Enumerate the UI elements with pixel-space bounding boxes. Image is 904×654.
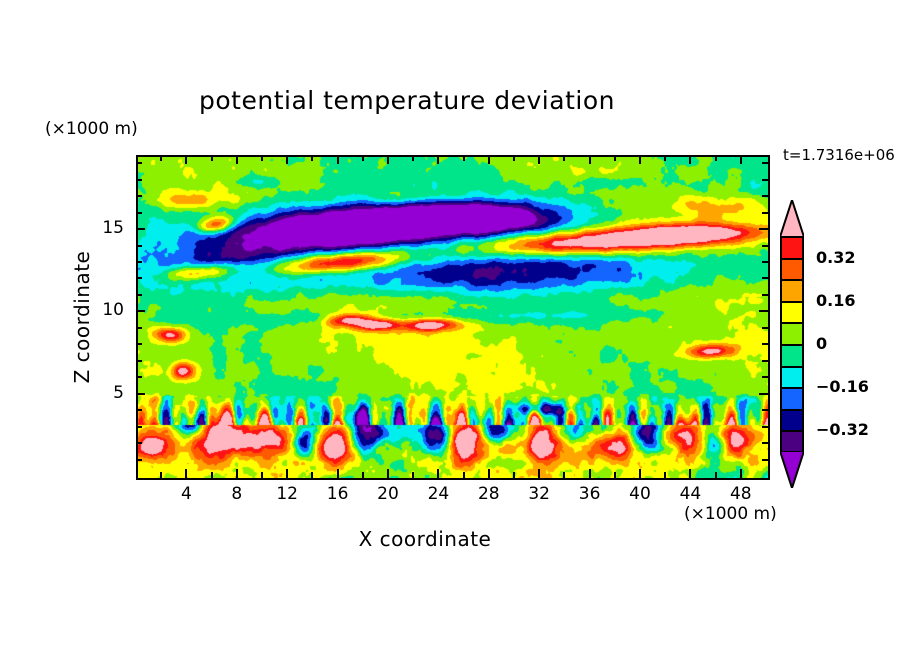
- x-tick-mark-bottom: [563, 472, 565, 478]
- x-tick-label: 44: [670, 484, 710, 504]
- x-tick-mark-bottom: [664, 472, 666, 478]
- y-tick-mark-left: [136, 294, 142, 296]
- x-tick-mark-top: [337, 155, 339, 164]
- y-tick-mark-right: [762, 277, 768, 279]
- x-tick-mark-top: [513, 155, 515, 161]
- x-tick-mark-bottom: [740, 469, 742, 478]
- y-tick-mark-left: [136, 310, 145, 312]
- y-tick-mark-right: [762, 245, 768, 247]
- x-tick-mark-bottom: [639, 469, 641, 478]
- y-axis-units-label: (×1000 m): [45, 119, 138, 139]
- x-tick-label: 48: [721, 484, 761, 504]
- colorbar-tick-label: 0.32: [816, 248, 855, 267]
- colorbar-tick-label: −0.32: [816, 420, 869, 439]
- y-tick-mark-left: [136, 212, 142, 214]
- x-tick-label: 40: [620, 484, 660, 504]
- x-tick-mark-top: [236, 155, 238, 164]
- y-tick-mark-right: [762, 360, 768, 362]
- x-axis-units-label: (×1000 m): [684, 504, 777, 524]
- colorbar-band: [782, 411, 802, 433]
- x-tick-mark-bottom: [463, 472, 465, 478]
- y-tick-mark-right: [762, 409, 768, 411]
- y-tick-mark-left: [136, 459, 142, 461]
- x-tick-mark-top: [412, 155, 414, 161]
- x-tick-mark-top: [664, 155, 666, 161]
- y-tick-mark-right: [762, 442, 768, 444]
- y-tick-mark-left: [136, 327, 142, 329]
- colorbar-band: [782, 324, 802, 346]
- y-tick-mark-left: [136, 228, 145, 230]
- y-tick-mark-left: [136, 277, 142, 279]
- x-tick-mark-bottom: [362, 472, 364, 478]
- colorbar-band: [782, 346, 802, 368]
- y-tick-mark-right: [762, 459, 768, 461]
- page-title: potential temperature deviation: [0, 86, 859, 115]
- x-tick-mark-top: [538, 155, 540, 164]
- x-tick-mark-top: [488, 155, 490, 164]
- x-tick-mark-top: [261, 155, 263, 161]
- y-tick-mark-right: [762, 195, 768, 197]
- y-axis-title: Z coordinate: [70, 207, 94, 427]
- colorbar-extend-high-arrow: [780, 200, 804, 237]
- y-tick-mark-right: [762, 327, 768, 329]
- x-tick-mark-bottom: [589, 469, 591, 478]
- x-tick-mark-bottom: [412, 472, 414, 478]
- y-tick-mark-left: [136, 442, 142, 444]
- contour-field-canvas: [138, 157, 768, 478]
- y-tick-mark-right: [759, 310, 768, 312]
- x-tick-mark-top: [286, 155, 288, 164]
- y-tick-mark-left: [136, 179, 142, 181]
- y-tick-mark-left: [136, 393, 145, 395]
- colorbar-band: [782, 303, 802, 325]
- y-tick-mark-right: [759, 228, 768, 230]
- x-tick-mark-top: [185, 155, 187, 164]
- y-tick-mark-right: [762, 162, 768, 164]
- colorbar-band: [782, 281, 802, 303]
- y-tick-mark-right: [762, 261, 768, 263]
- x-tick-label: 28: [469, 484, 509, 504]
- x-tick-mark-bottom: [538, 469, 540, 478]
- x-tick-mark-top: [639, 155, 641, 164]
- x-tick-mark-top: [160, 155, 162, 161]
- x-tick-mark-top: [563, 155, 565, 161]
- figure-root: potential temperature deviation (×1000 m…: [0, 0, 904, 654]
- y-tick-mark-right: [762, 294, 768, 296]
- x-tick-mark-bottom: [488, 469, 490, 478]
- y-tick-mark-left: [136, 195, 142, 197]
- x-tick-mark-top: [211, 155, 213, 161]
- x-tick-label: 36: [570, 484, 610, 504]
- x-tick-mark-top: [311, 155, 313, 161]
- colorbar-tick-label: 0.16: [816, 291, 855, 310]
- y-tick-mark-left: [136, 409, 142, 411]
- y-tick-mark-left: [136, 261, 142, 263]
- colorbar-tick-label: −0.16: [816, 377, 869, 396]
- x-axis-title: X coordinate: [110, 527, 740, 551]
- x-tick-mark-top: [689, 155, 691, 164]
- colorbar-band: [782, 368, 802, 390]
- colorbar-band: [782, 238, 802, 260]
- x-tick-mark-bottom: [261, 472, 263, 478]
- colorbar-band: [782, 260, 802, 282]
- colorbar[interactable]: 0.320.160−0.16−0.32: [780, 200, 806, 488]
- time-annotation: t=1.7316e+06: [783, 146, 895, 164]
- x-tick-label: 12: [267, 484, 307, 504]
- x-tick-mark-bottom: [311, 472, 313, 478]
- x-tick-label: 32: [519, 484, 559, 504]
- x-tick-mark-bottom: [387, 469, 389, 478]
- x-tick-mark-bottom: [689, 469, 691, 478]
- x-tick-label: 16: [318, 484, 358, 504]
- x-tick-mark-bottom: [160, 472, 162, 478]
- x-tick-label: 20: [368, 484, 408, 504]
- y-tick-mark-left: [136, 360, 142, 362]
- y-tick-mark-left: [136, 426, 142, 428]
- x-tick-mark-bottom: [715, 472, 717, 478]
- y-tick-mark-left: [136, 245, 142, 247]
- contour-plot-area[interactable]: [136, 155, 770, 480]
- y-tick-mark-left: [136, 162, 142, 164]
- x-tick-mark-top: [463, 155, 465, 161]
- y-tick-mark-right: [762, 376, 768, 378]
- y-tick-mark-right: [759, 393, 768, 395]
- y-tick-mark-left: [136, 376, 142, 378]
- colorbar-band: [782, 389, 802, 411]
- x-tick-mark-bottom: [614, 472, 616, 478]
- y-tick-mark-right: [762, 212, 768, 214]
- x-tick-mark-top: [437, 155, 439, 164]
- x-tick-mark-bottom: [513, 472, 515, 478]
- x-tick-label: 8: [217, 484, 257, 504]
- x-tick-mark-top: [387, 155, 389, 164]
- y-tick-mark-right: [762, 426, 768, 428]
- x-tick-mark-bottom: [185, 469, 187, 478]
- x-tick-label: 24: [418, 484, 458, 504]
- y-tick-mark-right: [762, 343, 768, 345]
- x-tick-mark-top: [614, 155, 616, 161]
- x-tick-mark-top: [715, 155, 717, 161]
- x-tick-mark-bottom: [437, 469, 439, 478]
- y-tick-mark-right: [762, 179, 768, 181]
- colorbar-tick-label: 0: [816, 334, 827, 353]
- x-tick-mark-top: [589, 155, 591, 164]
- x-tick-mark-bottom: [236, 469, 238, 478]
- x-tick-mark-bottom: [286, 469, 288, 478]
- colorbar-bands: [780, 236, 804, 452]
- x-tick-label: 4: [166, 484, 206, 504]
- x-tick-mark-bottom: [337, 469, 339, 478]
- x-tick-mark-top: [362, 155, 364, 161]
- x-tick-mark-top: [740, 155, 742, 164]
- y-tick-mark-left: [136, 343, 142, 345]
- x-tick-mark-bottom: [211, 472, 213, 478]
- colorbar-extend-low-arrow: [780, 451, 804, 488]
